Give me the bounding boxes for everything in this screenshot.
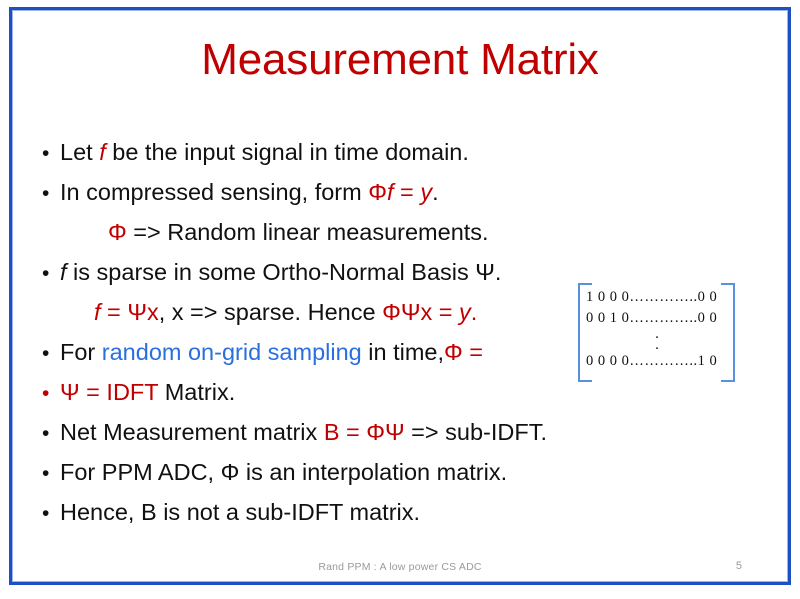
bullet-text: f is sparse in some Ortho-Normal Basis Ψ… [60, 253, 501, 291]
text-run: In compressed sensing, form [60, 179, 368, 205]
bullet-marker-icon: • [36, 255, 60, 293]
text-run: random on-grid sampling [102, 339, 362, 365]
text-run: Hence, B is not a sub-IDFT matrix. [60, 499, 420, 525]
text-run: y [420, 179, 432, 205]
text-run: Net Measurement matrix [60, 419, 324, 445]
text-run: , x => sparse. Hence [159, 299, 382, 325]
bullet-line: •Ψ = IDFT Matrix. [36, 373, 596, 413]
bullet-marker-icon: • [36, 455, 60, 493]
bullet-text: Hence, B is not a sub-IDFT matrix. [60, 493, 420, 531]
bullet-line: •Net Measurement matrix B = ΦΨ => sub-ID… [36, 413, 596, 453]
bullet-marker-icon: • [36, 135, 60, 173]
matrix-vertical-dots: . [586, 340, 728, 351]
bullet-marker-icon: • [36, 495, 60, 533]
bullet-line: •For random on-grid sampling in time,Φ = [36, 333, 596, 373]
matrix-rows: 1 0 0 0…………..0 00 0 1 0…………..0 0..0 0 0 … [586, 287, 728, 372]
bullet-line: •Hence, B is not a sub-IDFT matrix. [36, 493, 596, 533]
text-run: => Random linear measurements. [127, 219, 489, 245]
page-number: 5 [736, 560, 742, 572]
page-title: Measurement Matrix [0, 36, 800, 84]
bullet-text: Net Measurement matrix B = ΦΨ => sub-IDF… [60, 413, 547, 451]
bullet-text: Φ => Random linear measurements. [108, 213, 489, 251]
text-run: . [432, 179, 439, 205]
measurement-matrix-figure: 1 0 0 0…………..0 00 0 1 0…………..0 0..0 0 0 … [578, 283, 735, 382]
text-run: = Ψx [101, 299, 159, 325]
text-run: For PPM ADC, Φ is an interpolation matri… [60, 459, 507, 485]
text-run: in time, [362, 339, 444, 365]
bullet-line: •f = Ψx, x => sparse. Hence ΦΨx = y. [36, 293, 596, 333]
matrix-row: 1 0 0 0…………..0 0 [586, 287, 728, 308]
bullet-text: In compressed sensing, form Φf = y. [60, 173, 439, 211]
bullet-marker-icon: • [36, 375, 60, 413]
bullet-line: •f is sparse in some Ortho-Normal Basis … [36, 253, 596, 293]
matrix-row: 0 0 0 0…………..1 0 [586, 351, 728, 372]
text-run: Φ = [444, 339, 483, 365]
text-run: Ψ = IDFT [60, 379, 158, 405]
bullet-marker-icon: • [36, 415, 60, 453]
bullet-text: For PPM ADC, Φ is an interpolation matri… [60, 453, 507, 491]
text-run: is sparse in some Ortho-Normal Basis Ψ. [67, 259, 502, 285]
text-run: B = ΦΨ [324, 419, 405, 445]
text-run: => sub-IDFT. [405, 419, 547, 445]
text-run: Matrix. [158, 379, 235, 405]
bullet-text: Ψ = IDFT Matrix. [60, 373, 235, 411]
bullet-line: •In compressed sensing, form Φf = y. [36, 173, 596, 213]
bullet-marker-icon: • [36, 175, 60, 213]
text-run: Φ [108, 219, 127, 245]
bullet-text: For random on-grid sampling in time,Φ = [60, 333, 483, 371]
text-run: y [459, 299, 471, 325]
text-run: For [60, 339, 102, 365]
text-run: be the input signal in time domain. [106, 139, 469, 165]
bullet-text: Let f be the input signal in time domain… [60, 133, 469, 171]
bullet-list: •Let f be the input signal in time domai… [36, 133, 596, 533]
slide: Measurement Matrix •Let f be the input s… [0, 0, 800, 599]
text-run: ΦΨx = [382, 299, 459, 325]
text-run: Φ [368, 179, 387, 205]
text-run: = [394, 179, 421, 205]
text-run: . [471, 299, 478, 325]
bullet-line: •Let f be the input signal in time domai… [36, 133, 596, 173]
slide-footer: Rand PPM : A low power CS ADC [0, 561, 800, 573]
bullet-marker-icon: • [36, 335, 60, 373]
bullet-line: •Φ => Random linear measurements. [36, 213, 596, 253]
bullet-text: f = Ψx, x => sparse. Hence ΦΨx = y. [94, 293, 477, 331]
bullet-line: •For PPM ADC, Φ is an interpolation matr… [36, 453, 596, 493]
text-run: Let [60, 139, 99, 165]
